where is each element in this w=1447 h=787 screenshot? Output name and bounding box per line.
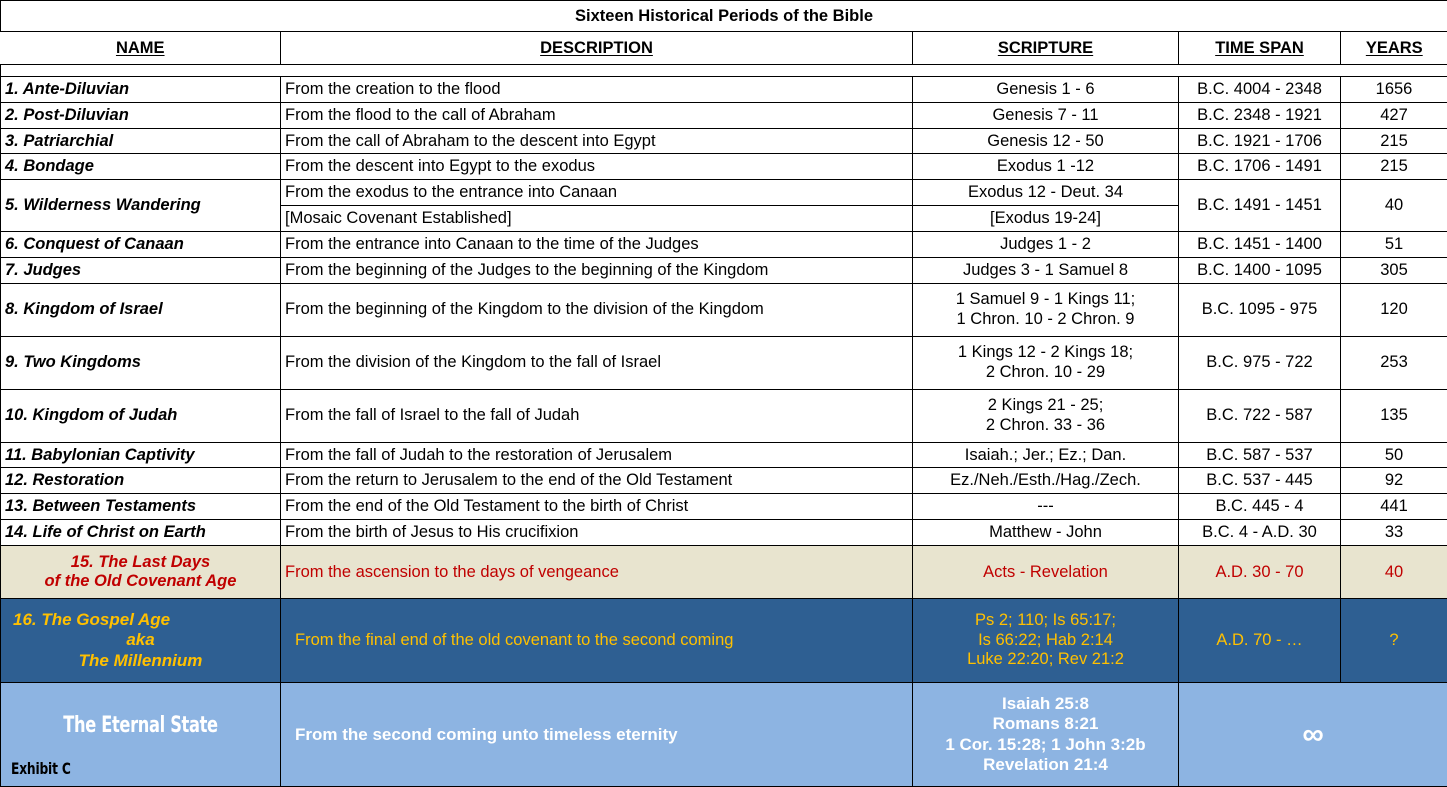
- period-time-span: B.C. 587 - 537: [1179, 442, 1341, 468]
- table-row: 13. Between Testaments From the end of t…: [1, 494, 1447, 520]
- column-header-description-label: DESCRIPTION: [540, 39, 653, 57]
- period-time-span: B.C. 1491 - 1451: [1179, 180, 1341, 232]
- scripture-line: Romans 8:21: [917, 714, 1174, 734]
- period-time-span: B.C. 4004 - 2348: [1179, 77, 1341, 103]
- period-description: From the exodus to the entrance into Can…: [281, 180, 913, 206]
- table-row: 9. Two Kingdoms From the division of the…: [1, 336, 1447, 389]
- infinity-symbol: ∞: [1179, 683, 1447, 787]
- table-row: 7. Judges From the beginning of the Judg…: [1, 257, 1447, 283]
- period-name: 11. Babylonian Captivity: [1, 442, 281, 468]
- period-scripture: Judges 3 - 1 Samuel 8: [913, 257, 1179, 283]
- period-scripture: Matthew - John: [913, 520, 1179, 546]
- period-time-span: A.D. 70 - …: [1179, 599, 1341, 683]
- table-row: 1. Ante-Diluvian From the creation to th…: [1, 77, 1447, 103]
- period-description: From the entrance into Canaan to the tim…: [281, 231, 913, 257]
- period-time-span: B.C. 537 - 445: [1179, 468, 1341, 494]
- period-description: From the birth of Jesus to His crucifixi…: [281, 520, 913, 546]
- period-scripture: 1 Kings 12 - 2 Kings 18; 2 Chron. 10 - 2…: [913, 336, 1179, 389]
- period-years: 51: [1341, 231, 1447, 257]
- period-time-span: B.C. 1095 - 975: [1179, 283, 1341, 336]
- period-description: From the flood to the call of Abraham: [281, 102, 913, 128]
- period-description: From the descent into Egypt to the exodu…: [281, 154, 913, 180]
- period-name: 3. Patriarchial: [1, 128, 281, 154]
- column-header-years: YEARS: [1341, 32, 1447, 65]
- period-name-line: 15. The Last Days: [5, 553, 276, 572]
- scripture-line: 2 Chron. 10 - 29: [917, 363, 1174, 382]
- page-title: Sixteen Historical Periods of the Bible: [1, 1, 1447, 32]
- column-header-scripture-label: SCRIPTURE: [998, 39, 1093, 57]
- period-years: ?: [1341, 599, 1447, 683]
- period-time-span: B.C. 1451 - 1400: [1179, 231, 1341, 257]
- period-name: 13. Between Testaments: [1, 494, 281, 520]
- period-years: 40: [1341, 546, 1447, 599]
- period-years: 253: [1341, 336, 1447, 389]
- scripture-line: 1 Kings 12 - 2 Kings 18;: [917, 343, 1174, 362]
- period-time-span: A.D. 30 - 70: [1179, 546, 1341, 599]
- table-row: 8. Kingdom of Israel From the beginning …: [1, 283, 1447, 336]
- title-row: Sixteen Historical Periods of the Bible: [1, 1, 1447, 32]
- column-header-name: NAME: [1, 32, 281, 65]
- period-name-line: of the Old Covenant Age: [5, 572, 276, 591]
- period-description: From the return to Jerusalem to the end …: [281, 468, 913, 494]
- header-divider-row: [1, 65, 1447, 77]
- period-years: 427: [1341, 102, 1447, 128]
- bible-periods-chart: Sixteen Historical Periods of the Bible …: [0, 0, 1447, 787]
- scripture-line: Luke 22:20; Rev 21:2: [917, 650, 1174, 669]
- period-name: 2. Post-Diluvian: [1, 102, 281, 128]
- scripture-line: 1 Chron. 10 - 2 Chron. 9: [917, 310, 1174, 329]
- period-name: 12. Restoration: [1, 468, 281, 494]
- period-scripture: Genesis 1 - 6: [913, 77, 1179, 103]
- period-scripture-secondary: [Exodus 19-24]: [913, 206, 1179, 232]
- scripture-line: Ps 2; 110; Is 65:17;: [917, 611, 1174, 630]
- table-row: 10. Kingdom of Judah From the fall of Is…: [1, 389, 1447, 442]
- period-scripture: ---: [913, 494, 1179, 520]
- period-name: 16. The Gospel Age aka The Millennium: [1, 599, 281, 683]
- period-scripture: Isaiah.; Jer.; Ez.; Dan.: [913, 442, 1179, 468]
- period-years: 33: [1341, 520, 1447, 546]
- period-years: 40: [1341, 180, 1447, 232]
- scripture-line: Is 66:22; Hab 2:14: [917, 631, 1174, 650]
- scripture-line: Revelation 21:4: [917, 755, 1174, 775]
- period-name: 8. Kingdom of Israel: [1, 283, 281, 336]
- period-description: From the end of the Old Testament to the…: [281, 494, 913, 520]
- period-name: 15. The Last Days of the Old Covenant Ag…: [1, 546, 281, 599]
- period-years: 1656: [1341, 77, 1447, 103]
- period-scripture: Genesis 12 - 50: [913, 128, 1179, 154]
- table-row: 4. Bondage From the descent into Egypt t…: [1, 154, 1447, 180]
- period-description: From the final end of the old covenant t…: [281, 599, 913, 683]
- period-years: 50: [1341, 442, 1447, 468]
- period-name-line: 16. The Gospel Age: [5, 610, 276, 630]
- period-description-secondary: [Mosaic Covenant Established]: [281, 206, 913, 232]
- period-scripture: 2 Kings 21 - 25; 2 Chron. 33 - 36: [913, 389, 1179, 442]
- period-name: 1. Ante-Diluvian: [1, 77, 281, 103]
- table-row: 11. Babylonian Captivity From the fall o…: [1, 442, 1447, 468]
- period-time-span: B.C. 445 - 4: [1179, 494, 1341, 520]
- period-name: 14. Life of Christ on Earth: [1, 520, 281, 546]
- table-row: 12. Restoration From the return to Jerus…: [1, 468, 1447, 494]
- header-divider-band: [1, 65, 1447, 77]
- period-time-span: B.C. 975 - 722: [1179, 336, 1341, 389]
- column-header-time-span: TIME SPAN: [1179, 32, 1341, 65]
- period-scripture: Exodus 12 - Deut. 34: [913, 180, 1179, 206]
- period-scripture: Acts - Revelation: [913, 546, 1179, 599]
- period-name-line: The Millennium: [5, 651, 276, 671]
- period-years: 441: [1341, 494, 1447, 520]
- eternal-state-scripture: Isaiah 25:8 Romans 8:21 1 Cor. 15:28; 1 …: [913, 683, 1179, 787]
- period-years: 120: [1341, 283, 1447, 336]
- table-row-last-days: 15. The Last Days of the Old Covenant Ag…: [1, 546, 1447, 599]
- exhibit-label: Exhibit C: [11, 759, 71, 778]
- table-row: 3. Patriarchial From the call of Abraham…: [1, 128, 1447, 154]
- period-name: 7. Judges: [1, 257, 281, 283]
- period-name: 9. Two Kingdoms: [1, 336, 281, 389]
- table-row: 14. Life of Christ on Earth From the bir…: [1, 520, 1447, 546]
- eternal-state-name-cell: The Eternal State Exhibit C: [1, 683, 281, 787]
- period-time-span: B.C. 1921 - 1706: [1179, 128, 1341, 154]
- table-row-eternal-state: The Eternal State Exhibit C From the sec…: [1, 683, 1447, 787]
- period-time-span: B.C. 722 - 587: [1179, 389, 1341, 442]
- period-scripture: Judges 1 - 2: [913, 231, 1179, 257]
- period-years: 135: [1341, 389, 1447, 442]
- period-time-span: B.C. 1400 - 1095: [1179, 257, 1341, 283]
- column-header-years-label: YEARS: [1366, 39, 1423, 57]
- period-name: 6. Conquest of Canaan: [1, 231, 281, 257]
- period-description: From the fall of Judah to the restoratio…: [281, 442, 913, 468]
- scripture-line: 1 Cor. 15:28; 1 John 3:2b: [917, 735, 1174, 755]
- column-header-name-label: NAME: [116, 39, 165, 57]
- period-time-span: B.C. 4 - A.D. 30: [1179, 520, 1341, 546]
- period-years: 215: [1341, 154, 1447, 180]
- period-description: From the call of Abraham to the descent …: [281, 128, 913, 154]
- period-name-line: aka: [5, 630, 276, 650]
- period-scripture: Ps 2; 110; Is 65:17; Is 66:22; Hab 2:14 …: [913, 599, 1179, 683]
- period-scripture: 1 Samuel 9 - 1 Kings 11; 1 Chron. 10 - 2…: [913, 283, 1179, 336]
- table-row: 5. Wilderness Wandering From the exodus …: [1, 180, 1447, 206]
- scripture-line: 2 Chron. 33 - 36: [917, 416, 1174, 435]
- period-description: From the creation to the flood: [281, 77, 913, 103]
- period-name: 4. Bondage: [1, 154, 281, 180]
- period-description: From the ascension to the days of vengea…: [281, 546, 913, 599]
- period-years: 92: [1341, 468, 1447, 494]
- period-years: 215: [1341, 128, 1447, 154]
- period-description: From the beginning of the Kingdom to the…: [281, 283, 913, 336]
- period-scripture: Ez./Neh./Esth./Hag./Zech.: [913, 468, 1179, 494]
- period-scripture: Exodus 1 -12: [913, 154, 1179, 180]
- scripture-line: 2 Kings 21 - 25;: [917, 396, 1174, 415]
- periods-table: Sixteen Historical Periods of the Bible …: [0, 0, 1447, 787]
- table-row: 6. Conquest of Canaan From the entrance …: [1, 231, 1447, 257]
- column-header-description: DESCRIPTION: [281, 32, 913, 65]
- column-header-scripture: SCRIPTURE: [913, 32, 1179, 65]
- column-header-row: NAME DESCRIPTION SCRIPTURE TIME SPAN YEA…: [1, 32, 1447, 65]
- period-description: From the division of the Kingdom to the …: [281, 336, 913, 389]
- period-description: From the fall of Israel to the fall of J…: [281, 389, 913, 442]
- period-name: 10. Kingdom of Judah: [1, 389, 281, 442]
- period-name: 5. Wilderness Wandering: [1, 180, 281, 232]
- eternal-state-name: The Eternal State: [29, 713, 251, 738]
- table-row: 2. Post-Diluvian From the flood to the c…: [1, 102, 1447, 128]
- period-years: 305: [1341, 257, 1447, 283]
- period-time-span: B.C. 1706 - 1491: [1179, 154, 1341, 180]
- period-scripture: Genesis 7 - 11: [913, 102, 1179, 128]
- eternal-state-description: From the second coming unto timeless ete…: [281, 683, 913, 787]
- period-description: From the beginning of the Judges to the …: [281, 257, 913, 283]
- scripture-line: 1 Samuel 9 - 1 Kings 11;: [917, 290, 1174, 309]
- table-row-gospel-age: 16. The Gospel Age aka The Millennium Fr…: [1, 599, 1447, 683]
- period-time-span: B.C. 2348 - 1921: [1179, 102, 1341, 128]
- column-header-time-span-label: TIME SPAN: [1215, 39, 1304, 57]
- scripture-line: Isaiah 25:8: [917, 694, 1174, 714]
